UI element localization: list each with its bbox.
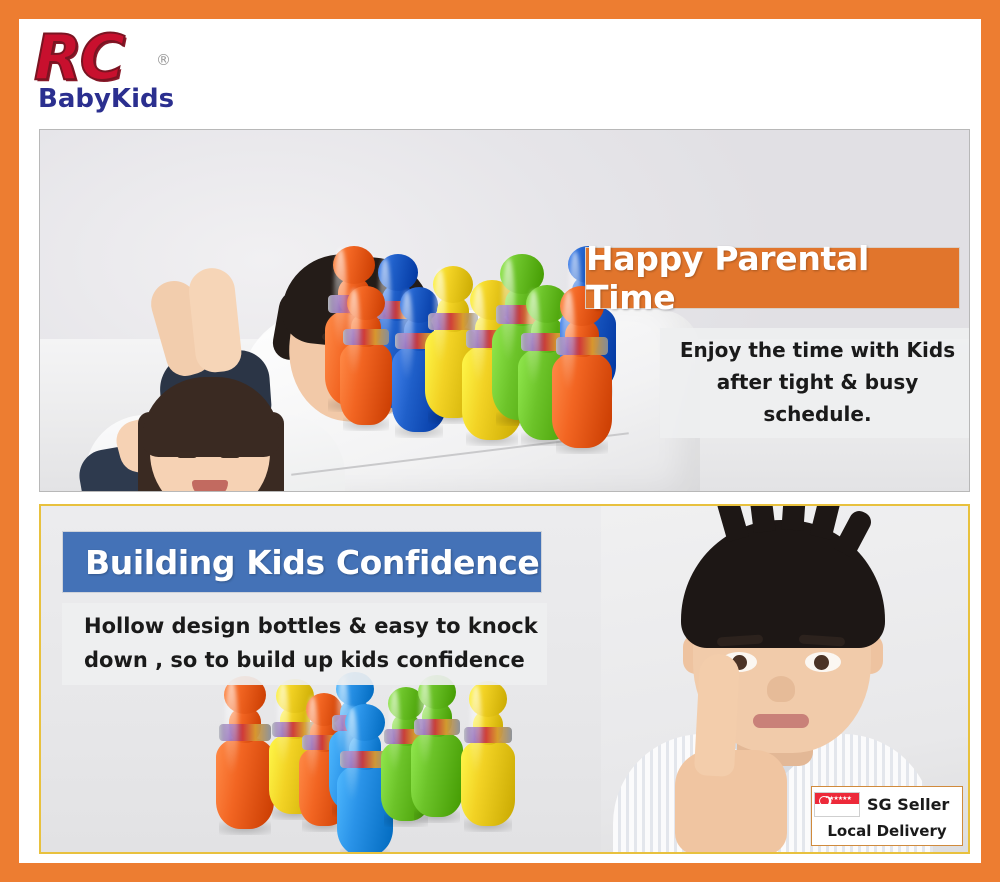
banner-building-kids-confidence: Building Kids Confidence <box>62 531 542 593</box>
crescent-icon <box>819 796 829 806</box>
pin-body <box>552 351 612 448</box>
pin-highlight <box>225 680 238 775</box>
boy-hair-spike-3 <box>781 504 806 531</box>
caption-top-line-2: after tight & busy schedule. <box>664 366 970 430</box>
pin-highlight <box>470 685 482 775</box>
caption-bottom-line-2: down , so to build up kids confidence <box>84 643 547 677</box>
logo-rc-label: RC <box>34 21 123 94</box>
local-delivery-label: Local Delivery <box>814 819 960 843</box>
child-foot-right <box>187 266 244 374</box>
bowling-pin <box>216 671 274 829</box>
panel-happy-parental-time: Happy Parental Time Enjoy the time with … <box>39 129 970 492</box>
thumbs-up-icon <box>694 653 740 777</box>
pin-highlight <box>348 289 359 376</box>
caption-happy-parental-time: Enjoy the time with Kids after tight & b… <box>660 328 970 438</box>
singapore-flag-icon: ★★★★★ <box>814 792 860 817</box>
caption-top-line-1: Enjoy the time with Kids <box>664 334 970 366</box>
pin-body <box>216 737 274 829</box>
boy-nose <box>767 676 795 702</box>
page-inner: RC ® BabyKids <box>19 19 981 863</box>
bowling-pin <box>340 280 392 425</box>
girl-eye-right <box>220 452 240 458</box>
banner-happy-parental-time: Happy Parental Time <box>585 247 960 309</box>
pin-highlight <box>307 696 318 779</box>
pin-highlight <box>419 678 430 767</box>
sg-seller-badge: ★★★★★ SG Seller Local Delivery <box>811 786 963 846</box>
boy-mouth <box>753 714 809 728</box>
bowling-pin <box>461 676 515 826</box>
pin-highlight <box>472 285 485 384</box>
bowling-pin <box>411 669 463 817</box>
sg-seller-label: SG Seller <box>867 795 949 814</box>
banner-title-top: Happy Parental Time <box>586 239 959 317</box>
brand-logo: RC ® BabyKids <box>28 27 188 122</box>
stars-icon: ★★★★★ <box>829 796 851 802</box>
pin-highlight <box>502 258 515 361</box>
caption-building-kids-confidence: Hollow design bottles & easy to knock do… <box>62 603 547 685</box>
pin-body <box>461 739 515 826</box>
logo-rc-text: RC ® <box>34 27 188 89</box>
pin-highlight <box>401 291 413 381</box>
pin-highlight <box>389 689 400 773</box>
sg-badge-row-top: ★★★★★ SG Seller <box>814 789 960 819</box>
panel-building-kids-confidence: ★★★★★ SG Seller Local Delivery Building … <box>39 504 970 854</box>
boy-photo: ★★★★★ SG Seller Local Delivery <box>601 506 970 852</box>
girl-smile <box>192 480 228 492</box>
caption-bottom-line-1: Hollow design bottles & easy to knock <box>84 609 547 643</box>
pin-highlight <box>527 290 540 386</box>
boy-pupil-right <box>814 655 829 670</box>
pin-highlight <box>277 682 288 766</box>
registered-trademark-icon: ® <box>156 29 169 91</box>
pin-highlight <box>562 290 575 391</box>
girl-eye-left <box>177 452 197 458</box>
banner-title-bottom: Building Kids Confidence <box>85 543 539 582</box>
boy-hair-spike-2 <box>748 504 775 533</box>
advertisement-page: RC ® BabyKids <box>0 0 1000 882</box>
